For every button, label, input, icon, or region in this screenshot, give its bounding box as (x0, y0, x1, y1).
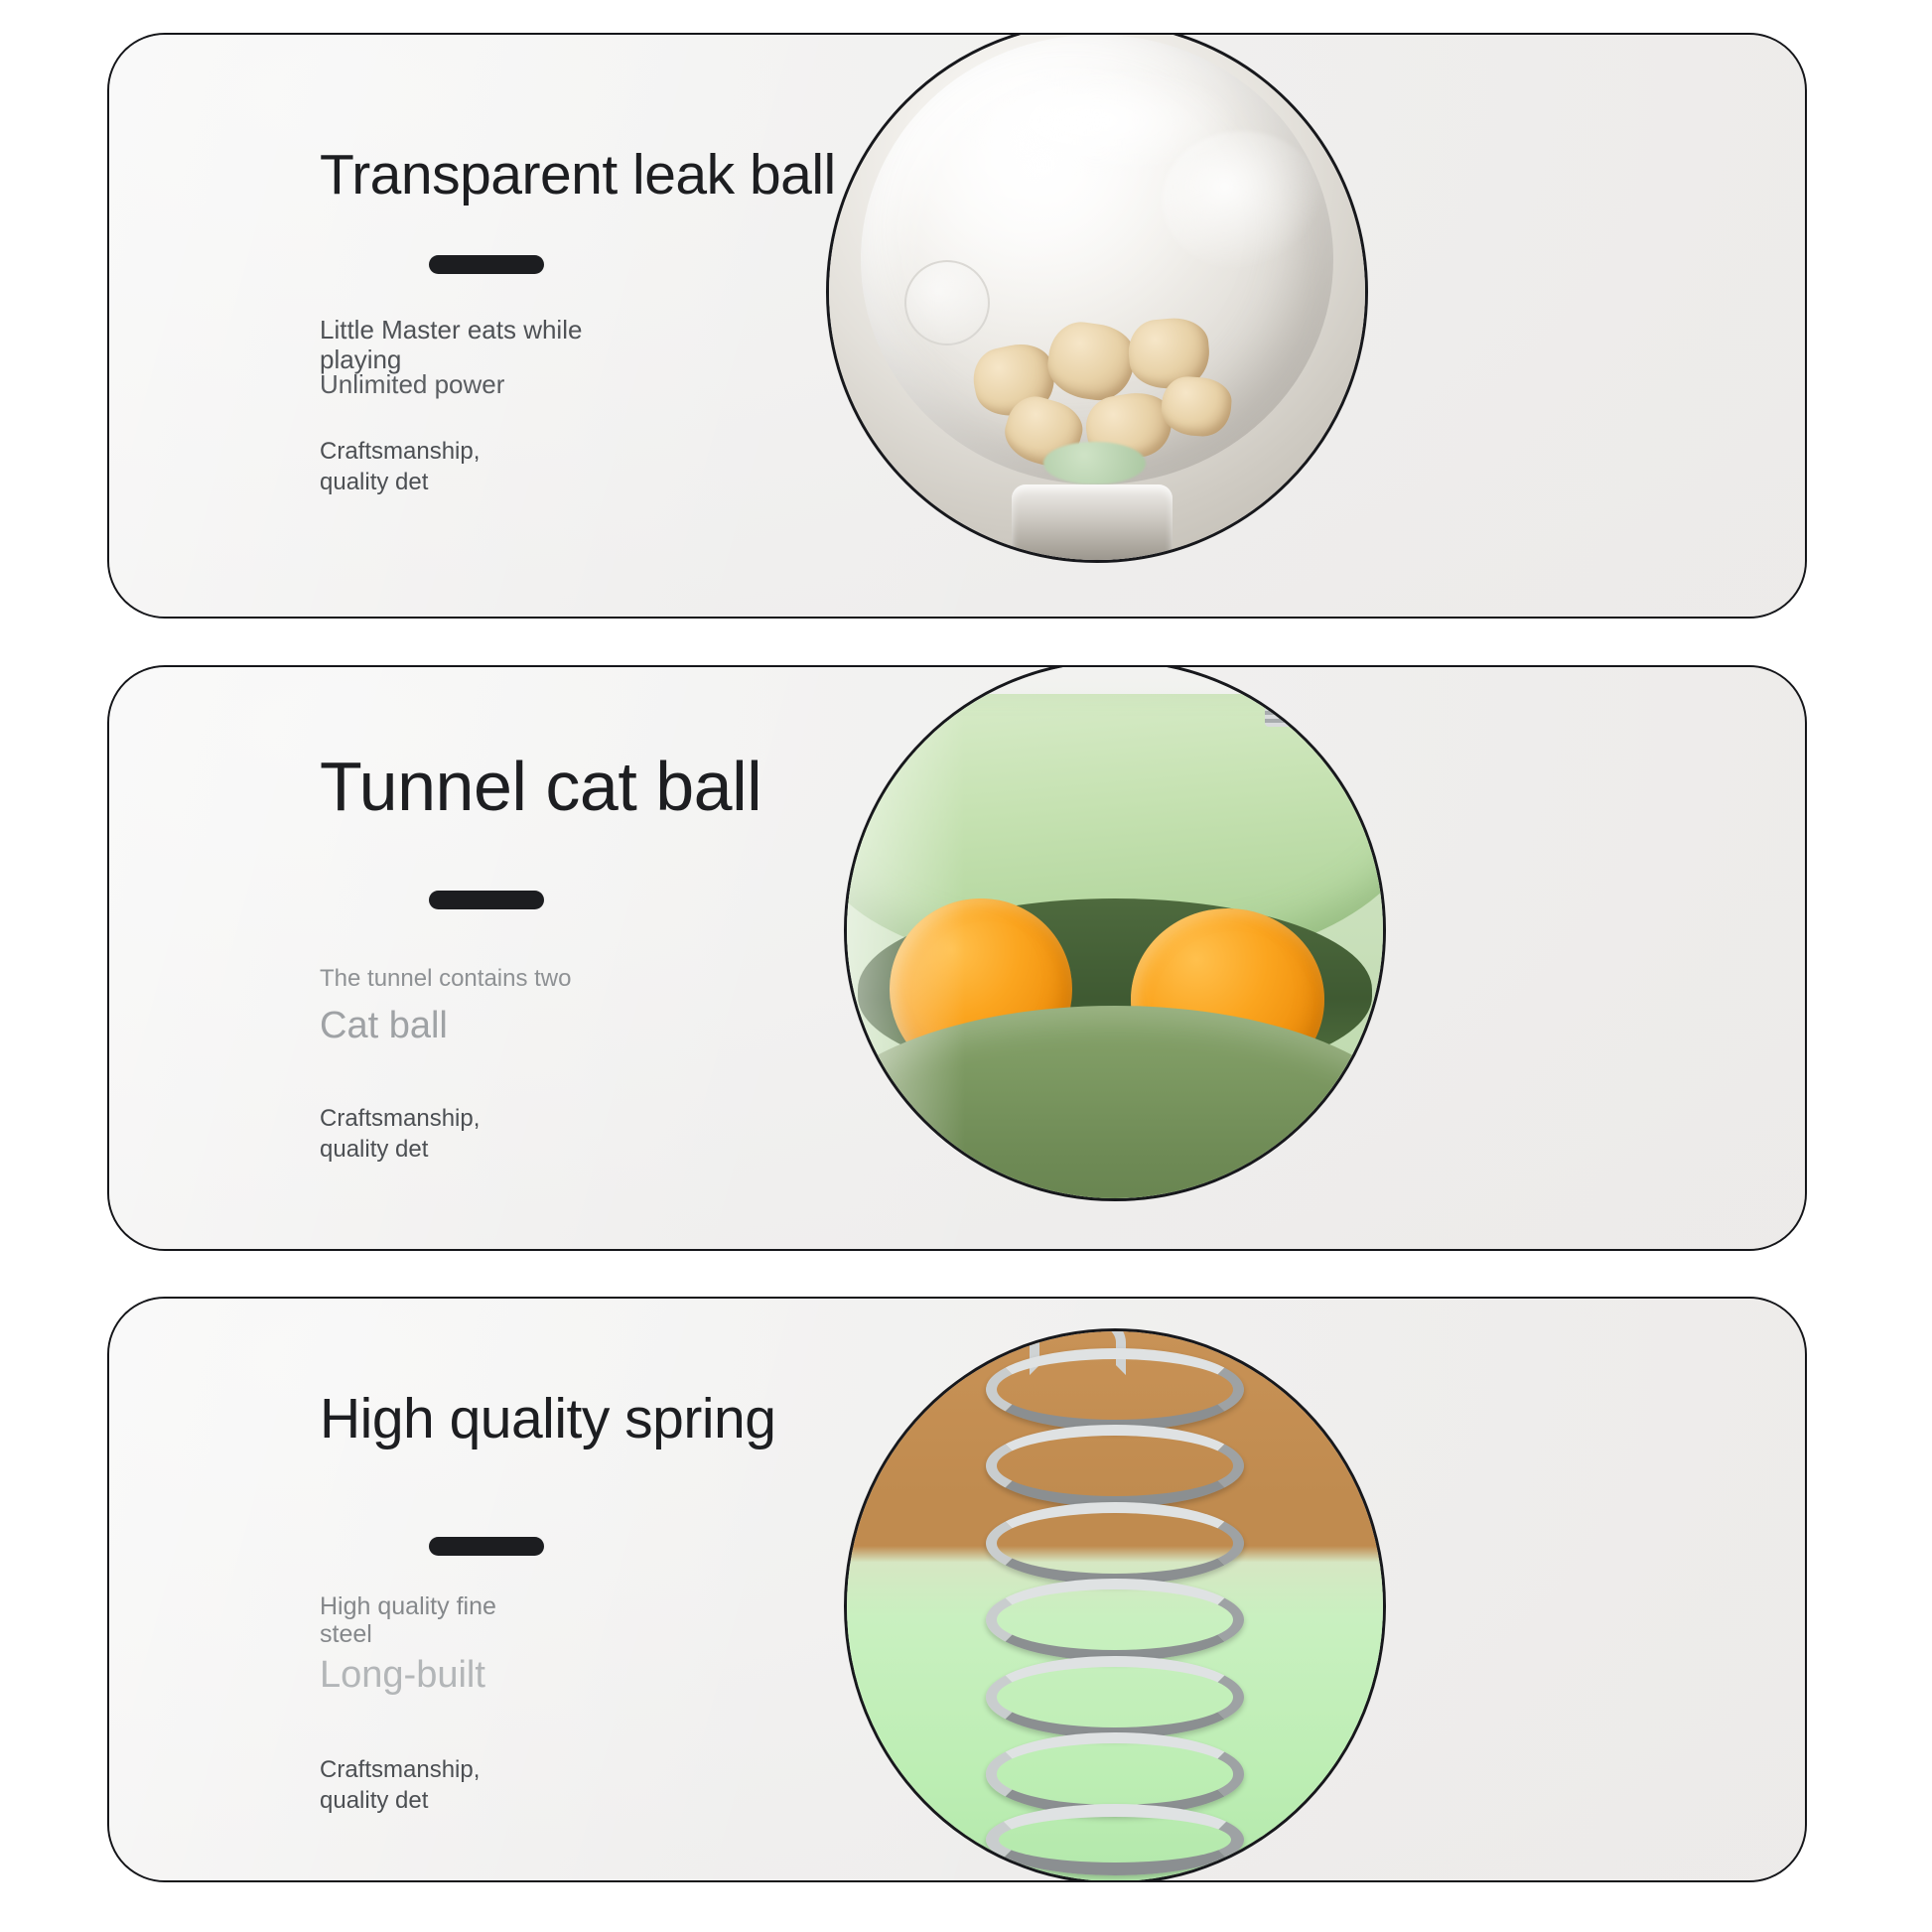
feature-primary-text: The tunnel contains two (320, 965, 572, 993)
feature-primary-text: High quality fine steel (320, 1592, 496, 1648)
craftsmanship-note: Craftsmanship, quality det (320, 1104, 480, 1165)
spring-tip-icon (1265, 665, 1297, 727)
accent-dash-icon (429, 255, 544, 274)
accent-dash-icon (429, 1537, 544, 1556)
craftsmanship-note: Craftsmanship, quality det (320, 437, 480, 497)
spring-coil (986, 1732, 1243, 1815)
card-title: Transparent leak ball (320, 142, 836, 207)
accent-dash-icon (429, 891, 544, 909)
feature-card-transparent-leak-ball[interactable]: Transparent leak ball Little Master eats… (107, 33, 1807, 619)
feature-secondary-text: Cat ball (320, 1005, 448, 1047)
craftsmanship-note: Craftsmanship, quality det (320, 1755, 480, 1816)
card-title: High quality spring (320, 1386, 775, 1451)
spring-coil (986, 1804, 1243, 1875)
feature-primary-text: Little Master eats while playing (320, 315, 582, 374)
feature-secondary-text: Unlimited power (320, 369, 504, 400)
spring-coil (986, 1579, 1243, 1661)
feature-card-tunnel-cat-ball[interactable]: Tunnel cat ball The tunnel contains two … (107, 665, 1807, 1251)
feature-secondary-text: Long-built (320, 1654, 485, 1697)
mint-treat (1043, 442, 1146, 484)
ball-base-cap (1012, 484, 1173, 563)
spring-coil (986, 1348, 1243, 1431)
feature-card-high-quality-spring[interactable]: High quality spring High quality fine st… (107, 1297, 1807, 1882)
card-text-block: High quality spring High quality fine st… (320, 1299, 1015, 1880)
globe-right-highlight (1162, 131, 1322, 270)
spring-coil (986, 1656, 1243, 1738)
card-title: Tunnel cat ball (320, 747, 761, 826)
spring-coil (986, 1425, 1243, 1507)
card-text-block: Transparent leak ball Little Master eats… (320, 35, 1015, 617)
card-text-block: Tunnel cat ball The tunnel contains two … (320, 667, 1015, 1249)
spring-coil (986, 1502, 1243, 1585)
product-feature-page: Transparent leak ball Little Master eats… (0, 0, 1932, 1932)
